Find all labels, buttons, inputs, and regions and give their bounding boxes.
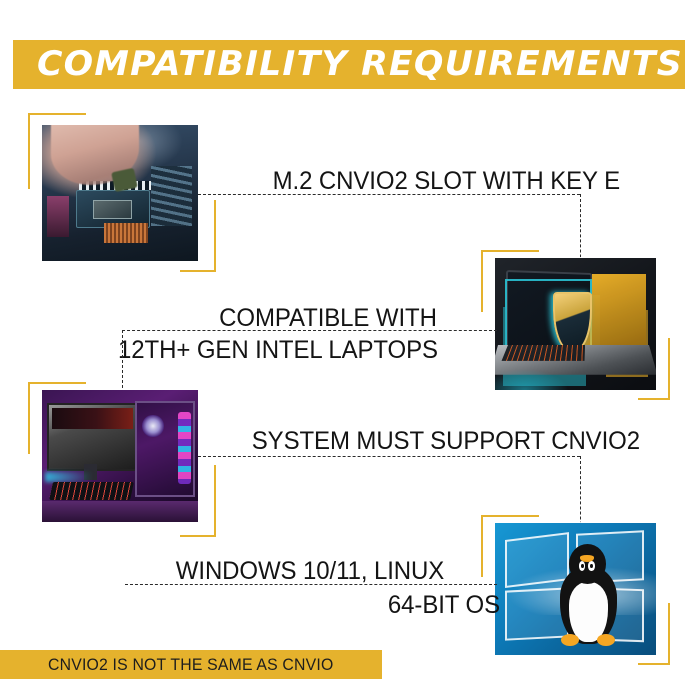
laptop-glow [495, 369, 569, 390]
tux-penguin-icon [556, 544, 620, 644]
feature-label-os-line2: 64-BIT OS [135, 590, 500, 621]
tux-eye-left [579, 561, 585, 571]
rgb-fan-strip [178, 412, 190, 484]
feature-label-cpu-gen-line2: 12TH+ GEN INTEL LAPTOPS [67, 335, 489, 366]
connector-slot-horizontal [198, 194, 580, 195]
gaming-monitor [47, 403, 138, 470]
connector-cpu-gen-horizontal [122, 330, 497, 331]
pc-tower [135, 401, 195, 497]
gold-circuit-graphic [592, 274, 647, 353]
tux-belly [569, 582, 608, 642]
gaming-keyboard [49, 482, 134, 500]
motherboard-capacitors [47, 196, 69, 237]
tux-foot-left [561, 634, 579, 646]
motherboard-installation-photo [42, 125, 198, 261]
gaming-pc-rgb-photo [42, 390, 198, 522]
page-title: COMPATIBILITY REQUIREMENTS [37, 42, 683, 87]
laptop-keyboard [501, 345, 585, 361]
tower-fan [142, 415, 163, 436]
hand-icon [51, 125, 138, 185]
connector-cnvio2-horizontal [198, 456, 580, 457]
feature-label-cnvio2-support: SYSTEM MUST SUPPORT CNVIO2 [244, 426, 640, 457]
header-banner: COMPATIBILITY REQUIREMENTS [13, 40, 685, 89]
motherboard-slot [151, 166, 192, 226]
feature-label-slot-line1: M.2 CNVIO2 SLOT WITH KEY E [273, 167, 620, 195]
desk-underglow [45, 472, 92, 483]
infographic-page: COMPATIBILITY REQUIREMENTS M.2 CNVIO2 SL… [0, 0, 700, 700]
footer-note: CNVIO2 IS NOT THE SAME AS CNVIO [48, 653, 333, 676]
feature-label-slot: M.2 CNVIO2 SLOT WITH KEY E [253, 166, 620, 197]
tux-eye-right [588, 561, 594, 571]
connector-os-horizontal [125, 584, 497, 585]
tux-foot-right [597, 634, 615, 646]
feature-label-os-line1: WINDOWS 10/11, LINUX [128, 556, 493, 587]
footer-banner: CNVIO2 IS NOT THE SAME AS CNVIO [0, 650, 382, 679]
windows-linux-tux-photo [495, 523, 656, 655]
motherboard-heatsink [104, 223, 148, 243]
desk-surface [42, 501, 198, 522]
